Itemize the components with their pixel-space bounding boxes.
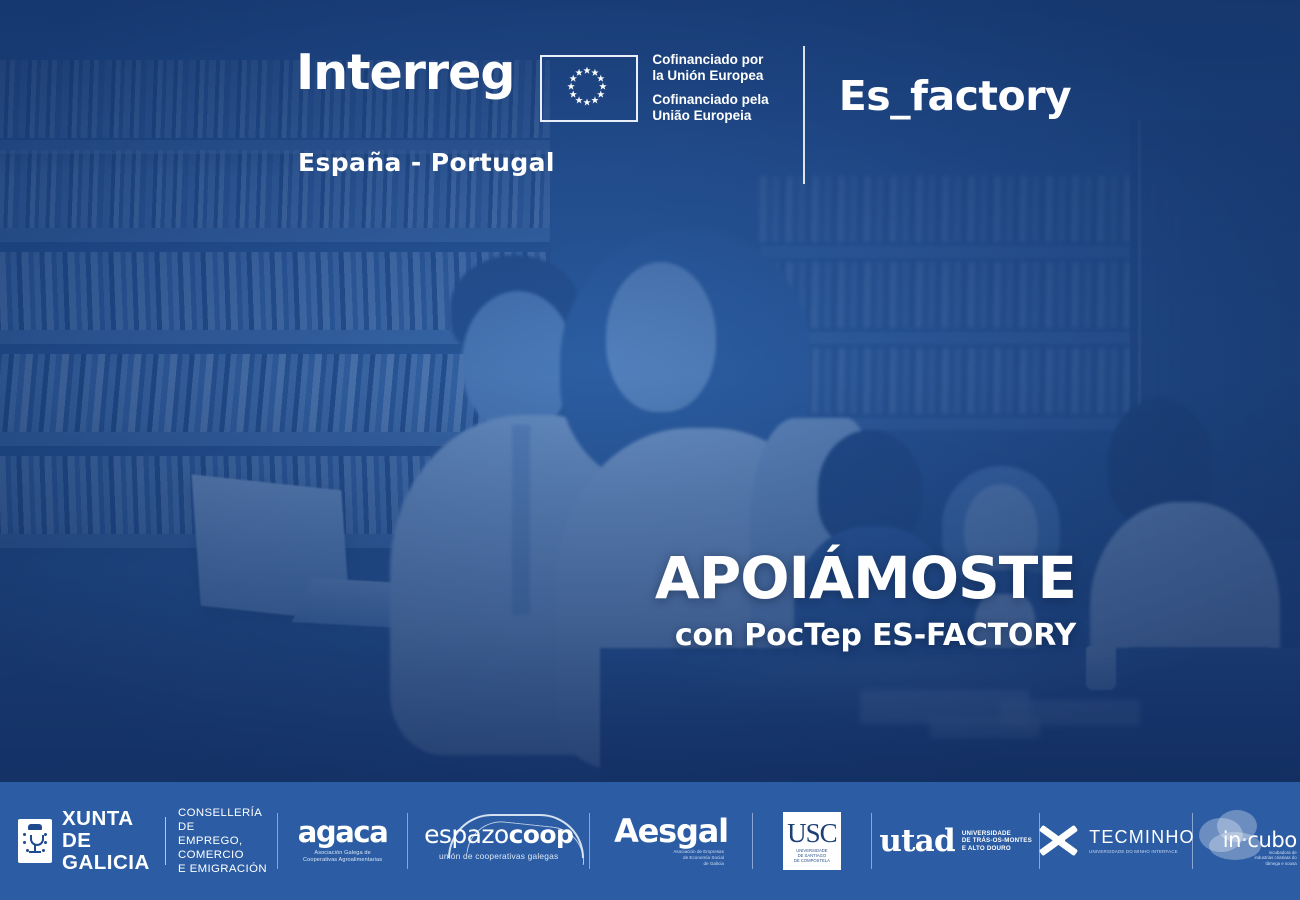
partner-logo-espazocoop[interactable]: espazocoop unión de cooperativas galegas [408,782,589,900]
xunta-inner-divider [165,817,166,865]
usc-wordmark: USC [787,820,837,846]
eu-funding-text: Cofinanciado por la Unión Europea Cofina… [652,52,768,124]
incubo-part2: cubo [1247,828,1296,852]
eu-funding-es-line2: la Unión Europea [652,68,763,83]
partner-logo-usc[interactable]: USC UNIVERSIDADE DE SANTIAGO DE COMPOSTE… [753,782,871,900]
xunta-name-line2: DE GALICIA [62,829,150,874]
partner-logo-tecminho[interactable]: TECMINHO UNIVERSIDADE DO MINHO INTERFACE [1040,782,1192,900]
espazocoop-wordmark: espazocoop [424,822,573,847]
dept-line3: E EMIGRACIÓN [178,863,267,875]
incubo-part1: in [1223,828,1241,852]
partner-logo-aesgal[interactable]: Aesgal Asociación de Empresas de Economí… [590,782,752,900]
aesgal-sub-line2: de Economía Social [683,855,724,860]
agaca-sub-line1: Asociación Galega de [314,850,370,856]
incubo-sub-line2: industrias criativas do [1255,855,1297,860]
eu-funding-es-line1: Cofinanciado por [652,52,763,67]
partner-logo-bar: XUNTA DE GALICIA CONSELLERÍA DE EMPREGO,… [0,782,1300,900]
tecminho-mark-icon [1038,825,1080,857]
espazo-part2: coop [509,820,574,849]
eu-flag-icon [540,55,638,122]
project-wordmark: Es_factory [839,72,1071,120]
partner-logo-xunta-de-galicia[interactable]: XUNTA DE GALICIA CONSELLERÍA DE EMPREGO,… [0,782,277,900]
incubo-sub-line3: tâmega e sousa [1265,861,1296,866]
partner-logo-agaca[interactable]: agaca Asociación Galega de Cooperativas … [278,782,407,900]
poster-canvas: Interreg [0,0,1300,900]
utad-subtitle: UNIVERSIDADE DE TRÁS-OS-MONTES E ALTO DO… [962,830,1032,853]
xunta-department-text: CONSELLERÍA DE EMPREGO, COMERCIO E EMIGR… [178,806,277,876]
xunta-shield-icon [18,819,52,863]
tecminho-wordmark: TECMINHO [1089,828,1195,846]
partner-logo-utad[interactable]: utad UNIVERSIDADE DE TRÁS-OS-MONTES E AL… [872,782,1040,900]
agaca-subtitle: Asociación Galega de Cooperativas Agroal… [298,850,388,864]
utad-sub-line2: DE TRÁS-OS-MONTES [962,837,1032,844]
eu-funding-pt-line1: Cofinanciado pela [652,92,768,107]
header-logo-band: Interreg [0,0,1300,200]
dept-line1: CONSELLERÍA DE [178,807,262,833]
utad-sub-line1: UNIVERSIDADE [962,830,1011,837]
aesgal-subtitle: Asociación de Empresas de Economía Socia… [614,849,728,867]
eu-funding-pt-line2: União Europeia [652,108,751,123]
interreg-wordmark: Interreg [296,48,514,97]
incubo-subtitle: incubadora de industrias criativas do tâ… [1235,850,1297,866]
espazo-part1: espazo [424,820,508,849]
usc-sub-line3: DE COMPOSTELA [794,858,830,863]
utad-wordmark: utad [879,826,954,857]
dept-line2: EMPREGO, COMERCIO [178,835,244,861]
agaca-wordmark: agaca [298,818,388,847]
incubo-wordmark: in·cubo [1223,828,1297,852]
utad-sub-line3: E ALTO DOURO [962,845,1011,852]
agaca-sub-line2: Cooperativas Agroalimentarias [303,857,382,863]
page-title: APOIÁMOSTE [0,548,1076,608]
partner-logo-incubo[interactable]: in·cubo incubadora de industrias criativ… [1193,782,1300,900]
eu-funding-lockup: Cofinanciado por la Unión Europea Cofina… [540,52,768,124]
espazocoop-subtitle: unión de cooperativas galegas [424,851,573,861]
usc-subtitle: UNIVERSIDADE DE SANTIAGO DE COMPOSTELA [794,848,830,863]
incubo-sub-line1: incubadora de [1269,850,1297,855]
tecminho-subtitle: UNIVERSIDADE DO MINHO INTERFACE [1089,849,1195,854]
xunta-name-line1: XUNTA [62,807,134,830]
hero-headline-block: APOIÁMOSTE con PocTep ES-FACTORY [0,548,1076,653]
xunta-wordmark: XUNTA DE GALICIA [62,808,153,874]
programme-label: España - Portugal [298,148,555,177]
logo-divider [803,46,805,184]
usc-logo-box: USC UNIVERSIDADE DE SANTIAGO DE COMPOSTE… [783,812,841,870]
aesgal-sub-line1: Asociación de Empresas [673,849,724,854]
aesgal-wordmark: Aesgal [614,815,728,847]
aesgal-sub-line3: de Galicia [703,861,723,866]
page-subtitle: con PocTep ES-FACTORY [0,618,1076,653]
